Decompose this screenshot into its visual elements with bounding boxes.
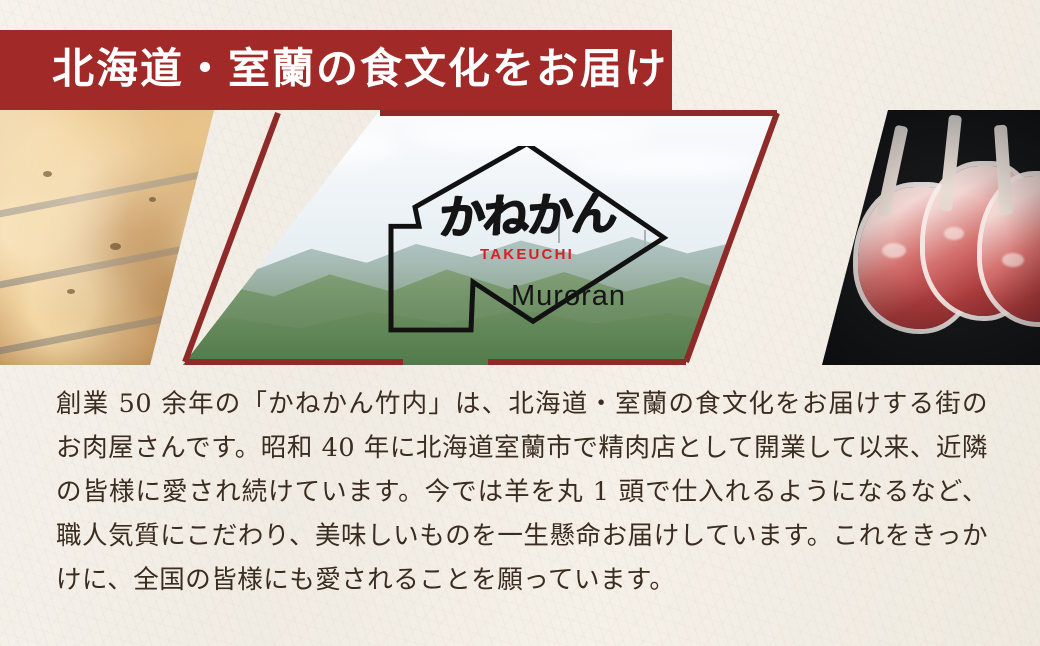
- photo-grilled-chicken: [0, 110, 240, 365]
- body-copy-block: 創業 50 余年の「かねかん竹内」は、北海道・室蘭の食文化をお届けする街のお肉屋…: [56, 382, 988, 602]
- photo-muroran-landscape: [163, 110, 780, 365]
- photo-band: [0, 110, 1040, 365]
- header-banner: 北海道・室蘭の食文化をお届け: [0, 30, 672, 110]
- poster-page: 北海道・室蘭の食文化をお届け かねかん TAKEUCHI Muroran 創業 …: [0, 0, 1040, 646]
- photo-lamb-chops: [800, 110, 1040, 365]
- banner-title: 北海道・室蘭の食文化をお届け: [0, 49, 668, 91]
- body-paragraph: 創業 50 余年の「かねかん竹内」は、北海道・室蘭の食文化をお届けする街のお肉屋…: [56, 382, 988, 602]
